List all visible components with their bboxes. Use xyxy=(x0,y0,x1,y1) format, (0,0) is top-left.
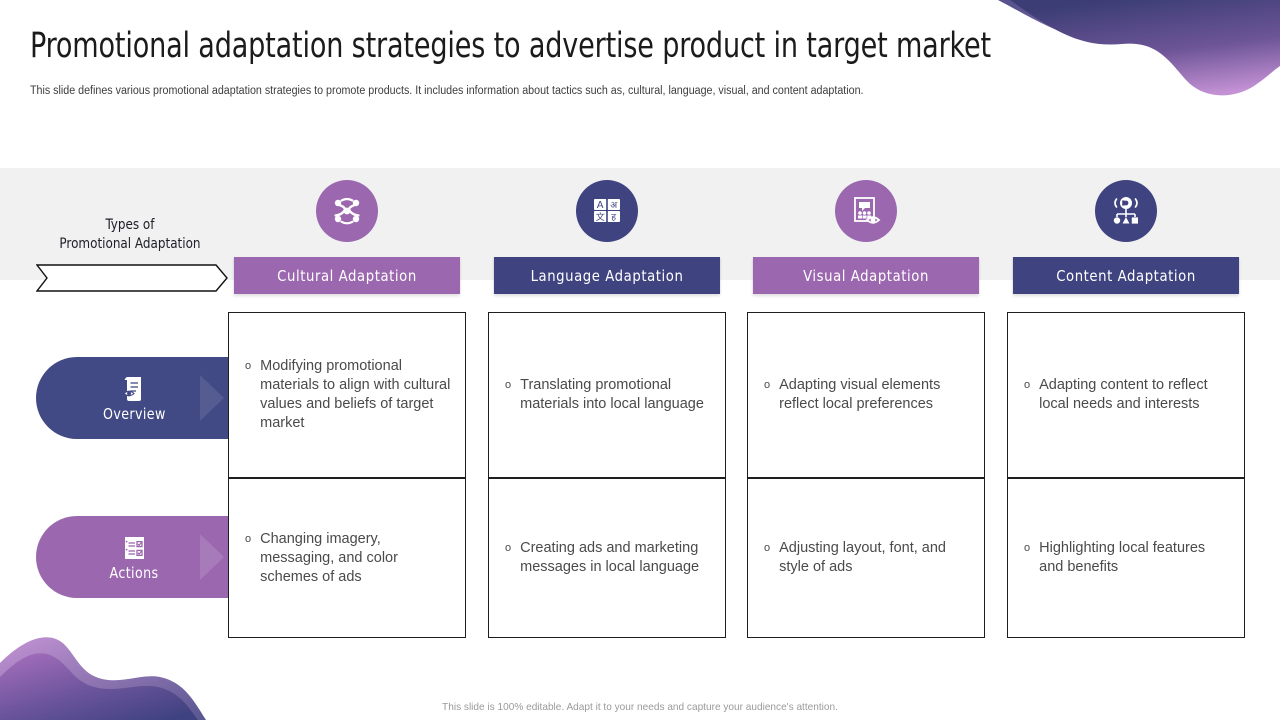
column-label-1: Language Adaptation xyxy=(531,267,684,285)
footer-note: This slide is 100% editable. Adapt it to… xyxy=(26,701,1255,713)
column-bar-3: Content Adaptation xyxy=(1013,257,1239,294)
bullet-marker: o xyxy=(764,376,770,414)
cell-text: Adapting visual elements reflect local p… xyxy=(779,376,970,414)
cell-text: Changing imagery, messaging, and color s… xyxy=(260,530,451,587)
chevron-right-icon xyxy=(200,534,224,580)
document-eye-icon xyxy=(119,374,149,404)
translation-book-icon: A अ 文 ह xyxy=(576,180,638,242)
bullet-marker: o xyxy=(1024,376,1030,414)
bullet-marker: o xyxy=(505,539,511,577)
checklist-icon xyxy=(119,533,149,563)
cell-text: Modifying promotional materials to align… xyxy=(260,357,451,433)
column-label-2: Visual Adaptation xyxy=(803,267,929,285)
visual-preview-eye-icon xyxy=(835,180,897,242)
column-bar-0: Cultural Adaptation xyxy=(234,257,460,294)
table-cell-r1c3: o Highlighting local features and benefi… xyxy=(1007,478,1245,638)
column-label-3: Content Adaptation xyxy=(1056,267,1196,285)
cell-text: Translating promotional materials into l… xyxy=(520,376,711,414)
table-cell-r0c1: o Translating promotional materials into… xyxy=(488,312,726,478)
table-cell-r0c2: o Adapting visual elements reflect local… xyxy=(747,312,985,478)
table-cell-r0c3: o Adapting content to reflect local need… xyxy=(1007,312,1245,478)
row-pill-actions[interactable]: Actions xyxy=(36,516,232,598)
bullet-marker: o xyxy=(245,530,251,587)
bullet-marker: o xyxy=(245,357,251,433)
page-title: Promotional adaptation strategies to adv… xyxy=(30,26,899,66)
column-bar-1: Language Adaptation xyxy=(494,257,720,294)
bullet-marker: o xyxy=(1024,539,1030,577)
axis-arrow-banner xyxy=(36,264,228,292)
svg-text:अ: अ xyxy=(610,201,618,211)
cell-text: Adjusting layout, font, and style of ads xyxy=(779,539,970,577)
table-cell-r1c2: o Adjusting layout, font, and style of a… xyxy=(747,478,985,638)
content-network-icon xyxy=(1095,180,1157,242)
axis-label-line2: Promotional Adaptation xyxy=(34,235,225,254)
table-cell-r1c1: o Creating ads and marketing messages in… xyxy=(488,478,726,638)
page-subtitle: This slide defines various promotional a… xyxy=(30,85,1100,97)
row-pill-overview[interactable]: Overview xyxy=(36,357,232,439)
cell-text: Creating ads and marketing messages in l… xyxy=(520,539,711,577)
row-label-actions: Actions xyxy=(110,564,159,582)
table-cell-r0c0: o Modifying promotional materials to ali… xyxy=(228,312,466,478)
svg-text:A: A xyxy=(597,200,604,211)
decorative-wave-top-right xyxy=(980,0,1280,135)
bullet-marker: o xyxy=(764,539,770,577)
svg-text:文: 文 xyxy=(596,211,605,223)
svg-text:ह: ह xyxy=(611,213,616,223)
chevron-right-icon xyxy=(200,375,224,421)
axis-label: Types of Promotional Adaptation xyxy=(34,216,225,254)
cultural-exchange-icon xyxy=(316,180,378,242)
row-label-overview: Overview xyxy=(103,405,166,423)
axis-label-line1: Types of xyxy=(34,216,225,235)
column-bar-2: Visual Adaptation xyxy=(753,257,979,294)
bullet-marker: o xyxy=(505,376,511,414)
cell-text: Highlighting local features and benefits xyxy=(1039,539,1230,577)
cell-text: Adapting content to reflect local needs … xyxy=(1039,376,1230,414)
column-label-0: Cultural Adaptation xyxy=(277,267,417,285)
table-cell-r1c0: o Changing imagery, messaging, and color… xyxy=(228,478,466,638)
slide-root: Promotional adaptation strategies to adv… xyxy=(0,0,1280,720)
